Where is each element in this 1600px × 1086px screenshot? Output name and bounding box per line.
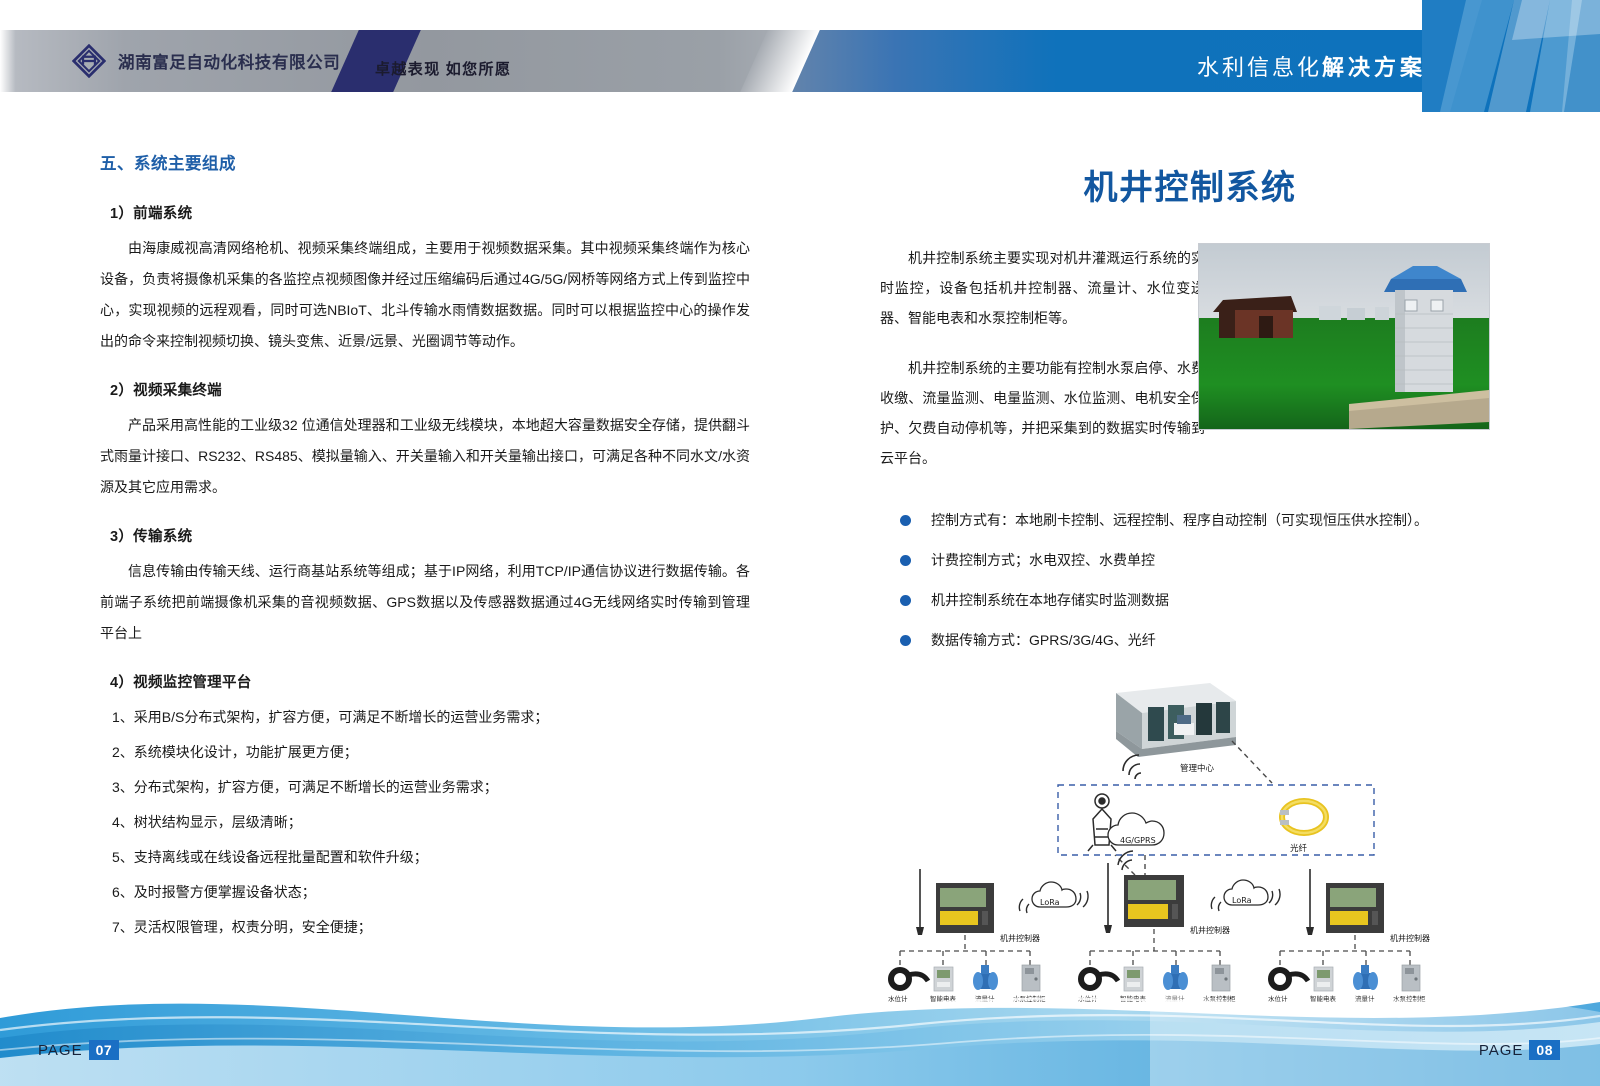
list-item: 5、支持离线或在线设备远程批量配置和软件升级； [112,842,750,873]
brochure-spread: 湖南富足自动化科技有限公司 卓越表现 如您所愿 水利信息化解决方案 五、系统主要… [0,0,1600,1086]
left-page-content: 五、系统主要组成 1）前端系统 由海康威视高清网络枪机、视频采集终端组成，主要用… [100,150,750,947]
page-number-right: PAGE 08 [1479,1040,1560,1060]
fiber-optic-icon [1280,801,1326,833]
diagram-link-label: LoRa [1232,896,1252,905]
page-number-badge: 08 [1529,1040,1560,1060]
well-controller-icon [1104,863,1184,933]
feature-bullet-list: 控制方式有：本地刷卡控制、远程控制、程序自动控制（可实现恒压供水控制）。 计费控… [900,507,1500,653]
subsection-paragraph: 由海康威视高清网络枪机、视频采集终端组成，主要用于视频数据采集。其中视频采集终端… [100,233,750,357]
subsection-heading: 2）视频采集终端 [110,379,750,400]
subsection-paragraph: 信息传输由传输天线、运行商基站系统等组成；基于IP网络，利用TCP/IP通信协议… [100,556,750,649]
list-item: 6、及时报警方便掌握设备状态； [112,877,750,908]
list-item: 1、采用B/S分布式架构，扩容方便，可满足不断增长的运营业务需求； [112,702,750,733]
content-block-transmission: 3）传输系统 信息传输由传输天线、运行商基站系统等组成；基于IP网络，利用TCP… [100,525,750,649]
site-photo [1198,243,1490,430]
brochure-title-light: 水利信息化 [1197,55,1322,80]
bullet-dot-icon [900,595,911,606]
company-name: 湖南富足自动化科技有限公司 [118,49,340,73]
content-block-frontend: 1）前端系统 由海康威视高清网络枪机、视频采集终端组成，主要用于视频数据采集。其… [100,202,750,357]
intro-section: 机井控制系统主要实现对机井灌溉运行系统的实时监控，设备包括机井控制器、流量计、水… [880,243,1500,473]
list-item-label: 数据传输方式：GPRS/3G/4G、光纤 [931,627,1156,653]
list-item-label: 控制方式有：本地刷卡控制、远程控制、程序自动控制（可实现恒压供水控制）。 [931,507,1428,533]
header-corner-graphic [1422,0,1600,112]
bullet-dot-icon [900,635,911,646]
list-item: 计费控制方式；水电双控、水费单控 [900,547,1500,573]
intro-text: 机井控制系统主要实现对机井灌溉运行系统的实时监控，设备包括机井控制器、流量计、水… [880,243,1205,473]
page-label: PAGE [1479,1042,1524,1059]
intro-paragraph: 机井控制系统的主要功能有控制水泵启停、水费收缴、流量监测、电量监测、水位监测、电… [880,353,1205,473]
list-item: 数据传输方式：GPRS/3G/4G、光纤 [900,627,1500,653]
content-block-platform: 4）视频监控管理平台 1、采用B/S分布式架构，扩容方便，可满足不断增长的运营业… [100,671,750,943]
right-page-content: 机井控制系统 机井控制系统主要实现对机井灌溉运行系统的实时监控，设备包括机井控制… [880,160,1500,1009]
subsection-heading: 1）前端系统 [110,202,750,223]
section-heading: 五、系统主要组成 [100,150,750,174]
list-item: 4、树状结构显示，层级清晰； [112,807,750,838]
footer-decorative-waves [0,926,1600,1086]
lora-link-right: LoRa [1211,880,1280,911]
lora-link-left: LoRa [1019,882,1088,913]
subsection-paragraph: 产品采用高性能的工业级32 位通信处理器和工业级无线模块，本地超大容量数据安全存… [100,410,750,503]
company-slogan: 卓越表现 如您所愿 [375,58,511,79]
list-item: 2、系统模块化设计，功能扩展更方便； [112,737,750,768]
page-header: 湖南富足自动化科技有限公司 卓越表现 如您所愿 水利信息化解决方案 [0,0,1600,112]
page-title: 机井控制系统 [880,160,1500,209]
diagram-fiber-label: 光纤 [1290,843,1308,854]
subsection-heading: 3）传输系统 [110,525,750,546]
bullet-dot-icon [900,515,911,526]
bullet-dot-icon [900,555,911,566]
diagram-network-cloud-label: 4G/GPRS [1120,836,1156,845]
list-item-label: 机井控制系统在本地存储实时监测数据 [931,587,1169,613]
list-item: 3、分布式架构，扩容方便，可满足不断增长的运营业务需求； [112,772,750,803]
subsection-heading: 4）视频监控管理平台 [110,671,750,692]
page-label: PAGE [38,1042,83,1059]
company-logo-icon [72,44,106,78]
content-block-video-terminal: 2）视频采集终端 产品采用高性能的工业级32 位通信处理器和工业级无线模块，本地… [100,379,750,503]
list-item: 机井控制系统在本地存储实时监测数据 [900,587,1500,613]
intro-paragraph: 机井控制系统主要实现对机井灌溉运行系统的实时监控，设备包括机井控制器、流量计、水… [880,243,1205,333]
wireless-signal-icon [1123,755,1141,779]
site-photo-illustration [1199,244,1489,429]
list-item-label: 计费控制方式；水电双控、水费单控 [931,547,1155,573]
brochure-title-strong: 解决方案 [1322,55,1426,80]
management-center-icon [1116,683,1236,757]
diagram-link-label: LoRa [1040,898,1060,907]
diagram-center-label: 管理中心 [1180,763,1215,774]
page-number-badge: 07 [89,1040,120,1060]
page-number-left: PAGE 07 [38,1040,119,1060]
footer-wave-graphic [0,926,1600,1086]
list-item: 控制方式有：本地刷卡控制、远程控制、程序自动控制（可实现恒压供水控制）。 [900,507,1500,533]
brochure-title: 水利信息化解决方案 [1197,50,1426,82]
